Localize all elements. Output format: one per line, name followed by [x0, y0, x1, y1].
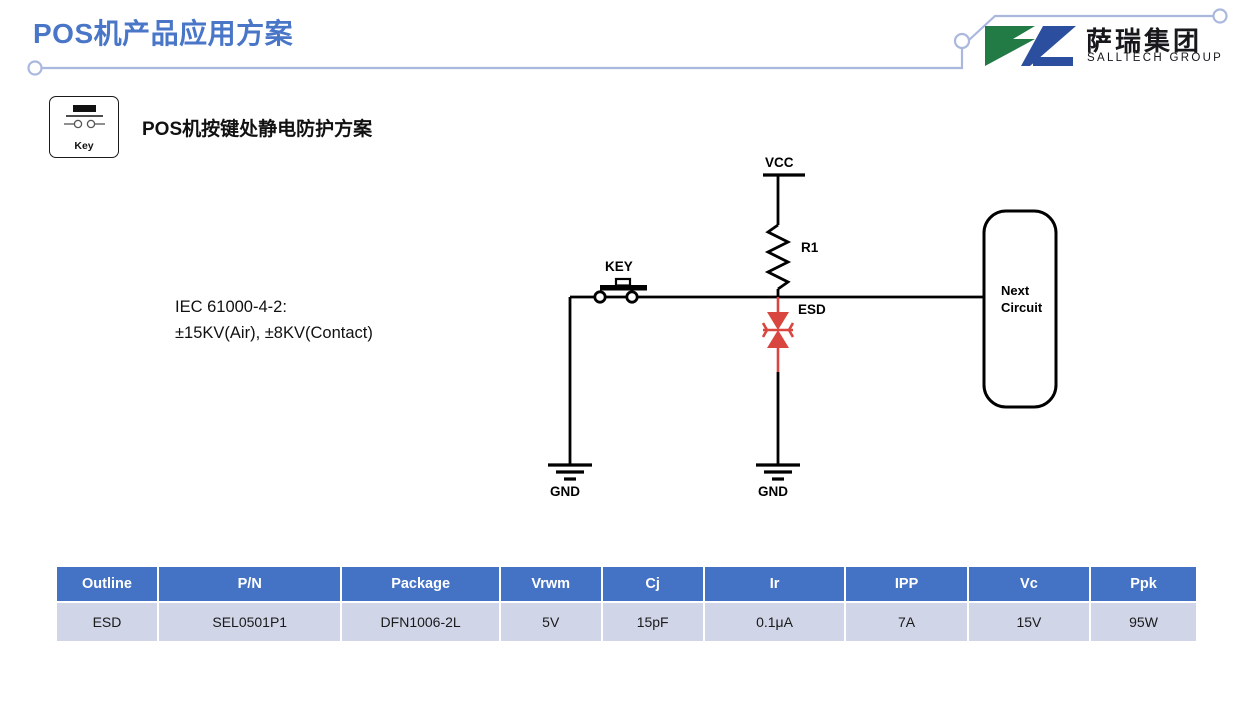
cell-vrwm: 5V: [500, 602, 602, 641]
gnd-left-label: GND: [550, 484, 580, 499]
cell-package: DFN1006-2L: [341, 602, 499, 641]
col-header-ipp: IPP: [845, 567, 967, 602]
cell-outline: ESD: [57, 602, 158, 641]
gnd-symbol-left: [548, 465, 592, 479]
cell-ipp: 7A: [845, 602, 967, 641]
section-subtitle: POS机按键处静电防护方案: [142, 114, 372, 141]
next-circuit-line2: Circuit: [1001, 300, 1043, 315]
key-terminal-left: [595, 292, 605, 302]
table-row: ESD SEL0501P1 DFN1006-2L 5V 15pF 0.1μA 7…: [57, 602, 1196, 641]
cell-ir: 0.1μA: [704, 602, 846, 641]
col-header-ppk: Ppk: [1090, 567, 1196, 602]
col-header-outline: Outline: [57, 567, 158, 602]
col-header-vrwm: Vrwm: [500, 567, 602, 602]
cell-vc: 15V: [968, 602, 1090, 641]
cell-ppk: 95W: [1090, 602, 1196, 641]
push-button-switch-icon: [50, 99, 118, 139]
col-header-pn: P/N: [158, 567, 342, 602]
resistor-r1-symbol: [768, 225, 788, 289]
salltech-logo-mark: [983, 24, 1078, 68]
esd-standard-line1: IEC 61000-4-2:: [175, 295, 373, 321]
circuit-diagram: VCC R1 KEY GND ESD GND: [520, 140, 1100, 510]
col-header-vc: Vc: [968, 567, 1090, 602]
page-title: POS机产品应用方案: [33, 12, 293, 52]
vcc-label: VCC: [765, 155, 794, 170]
gnd-symbol-right: [756, 465, 800, 479]
col-header-package: Package: [341, 567, 499, 602]
company-logo: 萨瑞集团 SALLTECH GROUP: [983, 22, 1208, 72]
key-switch-label: KEY: [605, 259, 633, 274]
key-switch-cap: [616, 279, 630, 286]
esd-tvs-diode-symbol: [763, 312, 793, 348]
cell-cj: 15pF: [602, 602, 704, 641]
key-badge-label: Key: [50, 140, 118, 152]
key-terminal-right: [627, 292, 637, 302]
next-circuit-line1: Next: [1001, 283, 1030, 298]
esd-label: ESD: [798, 302, 826, 317]
resistor-r1-label: R1: [801, 240, 819, 255]
esd-standard-note: IEC 61000-4-2: ±15KV(Air), ±8KV(Contact): [175, 295, 373, 346]
col-header-ir: Ir: [704, 567, 846, 602]
spec-table: Outline P/N Package Vrwm Cj Ir IPP Vc Pp…: [57, 567, 1196, 641]
key-badge: Key: [49, 96, 119, 158]
gnd-right-label: GND: [758, 484, 788, 499]
col-header-cj: Cj: [602, 567, 704, 602]
esd-standard-line2: ±15KV(Air), ±8KV(Contact): [175, 321, 373, 347]
table-header-row: Outline P/N Package Vrwm Cj Ir IPP Vc Pp…: [57, 567, 1196, 602]
cell-pn: SEL0501P1: [158, 602, 342, 641]
logo-en-name: SALLTECH GROUP: [1087, 52, 1223, 64]
